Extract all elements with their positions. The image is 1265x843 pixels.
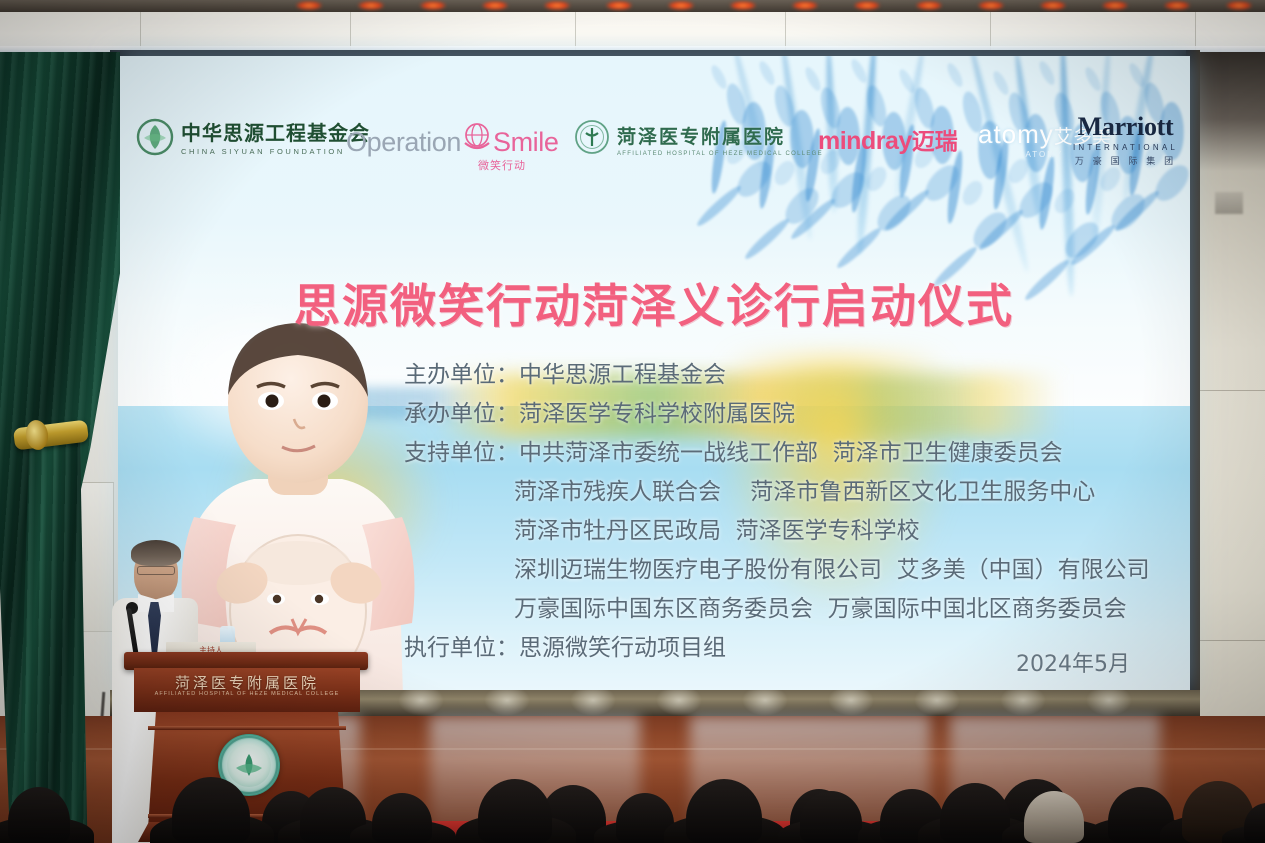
frame-highlight [828, 690, 874, 716]
audience-head [478, 779, 552, 843]
audience-head [372, 793, 432, 843]
logo-sub-name: INTERNATIONAL [1073, 143, 1178, 152]
audience-head [8, 787, 70, 843]
logo-cn-name: 迈瑞 [912, 122, 958, 156]
logo-cn-name: 中华思源工程基金会 [181, 123, 370, 144]
logo-cn-name: 微笑行动 [478, 157, 526, 173]
slide-body-line: 菏泽市残疾人联合会 菏泽市鲁西新区文化卫生服务中心 [118, 473, 1190, 512]
ceiling-light [482, 1, 508, 10]
audience-head [1024, 791, 1084, 843]
ceiling-light [1102, 1, 1128, 10]
logo-affiliated-hospital: 菏泽医专附属医院 AFFILIATED HOSPITAL OF HEZE MED… [574, 119, 823, 160]
frame-highlight [742, 690, 788, 716]
frame-highlight [570, 690, 616, 716]
ceiling-light [730, 1, 756, 10]
ceiling-light [854, 1, 880, 10]
stage-curtain-left [0, 52, 120, 822]
right-wall [1193, 52, 1265, 797]
logo-en-name: atomy [978, 119, 1054, 150]
logo-operation-smile: Operation Smile 微笑行动 [346, 121, 559, 158]
frame-highlight [398, 690, 444, 716]
ceiling-light [296, 1, 322, 10]
ceiling-light [916, 1, 942, 10]
event-photo-scene: 小象 中华思源工程基金会 CHINA SIYUAN [0, 0, 1265, 843]
logo-word-operation: Operation [346, 127, 461, 158]
logo-cn-name: 菏泽医专附属医院 [617, 122, 823, 149]
logo-en-name: AFFILIATED HOSPITAL OF HEZE MEDICAL COLL… [617, 151, 823, 157]
ceiling-light [420, 1, 446, 10]
wall-seam [1193, 640, 1265, 641]
frame-highlight [1086, 690, 1132, 716]
ceiling-light [978, 1, 1004, 10]
frame-highlight [484, 690, 530, 716]
logo-text-block: 中华思源工程基金会 CHINA SIYUAN FOUNDATION [181, 123, 370, 156]
audience-head [940, 783, 1010, 843]
logo-cn-name: 万 豪 国 际 集 团 [1075, 154, 1176, 167]
logo-sub-name: ATOMY [1026, 150, 1064, 159]
audience-rows [0, 735, 1265, 843]
glasses-icon [137, 566, 175, 575]
logo-en-name: Marriott [1078, 112, 1174, 142]
ceiling-light [792, 1, 818, 10]
slide-date: 2024年5月 [1016, 646, 1130, 678]
logo-marriott: Marriott INTERNATIONAL 万 豪 国 际 集 团 [1073, 112, 1178, 167]
slide-title: 思源微笑行动菏泽义诊行启动仪式 [118, 270, 1190, 336]
slide-body-line: 承办单位：菏泽医学专科学校附属医院 [118, 395, 1190, 434]
speaker-hair [131, 540, 181, 566]
frame-highlight [914, 690, 960, 716]
ceiling-light [1040, 1, 1066, 10]
logo-en-name: mindray [818, 127, 912, 156]
ceiling-light [358, 1, 384, 10]
logo-china-siyuan-foundation: 中华思源工程基金会 CHINA SIYUAN FOUNDATION [136, 118, 370, 161]
podium-en-text: AFFILIATED HOSPITAL OF HEZE MEDICAL COLL… [134, 691, 360, 697]
slide-body-line: 支持单位：中共菏泽市委统一战线工作部 菏泽市卫生健康委员会 [118, 434, 1190, 473]
siyuan-emblem-icon [136, 118, 174, 161]
ceiling-light [1226, 1, 1252, 10]
slide-body-line: 主办单位：中华思源工程基金会 [118, 356, 1190, 395]
ceiling-light [544, 1, 570, 10]
audience-head [172, 777, 250, 843]
audience-head [800, 791, 862, 843]
frame-highlight [656, 690, 702, 716]
ceiling-light [606, 1, 632, 10]
frame-highlight [1000, 690, 1046, 716]
sponsor-logo-bar: 中华思源工程基金会 CHINA SIYUAN FOUNDATION Operat… [118, 108, 1190, 170]
hospital-roundel-icon [574, 119, 610, 160]
podium-trim [148, 726, 346, 730]
ceiling-light [668, 1, 694, 10]
wall-seam [1193, 390, 1265, 391]
logo-en-name: CHINA SIYUAN FOUNDATION [181, 147, 370, 156]
globe-icon [462, 121, 492, 156]
audience-head [686, 779, 762, 843]
logo-word-smile: Smile [493, 127, 559, 158]
logo-mindray: mindray 迈瑞 [818, 122, 958, 156]
podium-cn-text: 菏泽医专附属医院 [134, 672, 360, 693]
ceiling-light [1164, 1, 1190, 10]
wall-fixture [1215, 192, 1243, 214]
